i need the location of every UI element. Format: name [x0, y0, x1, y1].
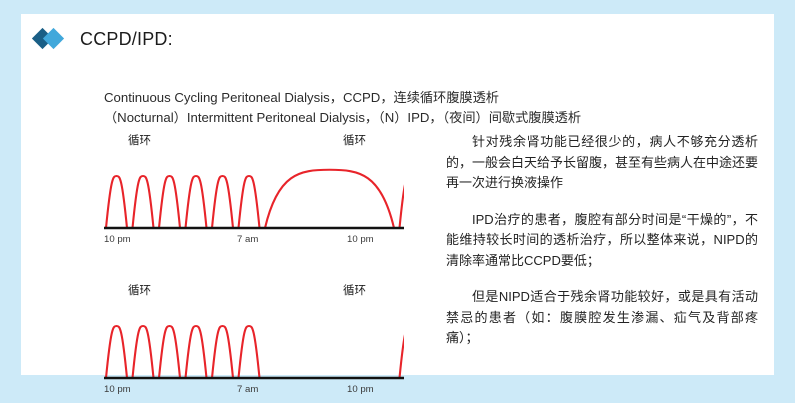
chart-nipd-svg — [104, 302, 404, 382]
chart-ccpd-plot — [104, 152, 424, 232]
slide-title-row: CCPD/IPD: — [35, 28, 173, 50]
dialysis-exchange-peak — [133, 176, 154, 228]
cycle-label-right: 循环 — [343, 282, 366, 298]
dialysis-exchange-peak — [106, 326, 127, 378]
dialysis-exchange-peak — [186, 326, 207, 378]
x-tick-0: 10 pm — [104, 384, 131, 395]
cycle-label-right: 循环 — [343, 132, 366, 148]
long-dwell-dome — [265, 170, 394, 228]
chart-nipd-plot — [104, 302, 424, 382]
x-tick-1: 7 am — [237, 234, 258, 245]
chart-ccpd: 循环 循环 10 pm 7 am 10 pm — [104, 132, 424, 250]
dialysis-exchange-peak — [212, 326, 233, 378]
chart-nipd-annotations: 循环 循环 — [104, 282, 424, 302]
notes-column: 针对残余肾功能已经很少的，病人不够充分透析的，一般会白天给予长留腹，甚至有些病人… — [446, 132, 758, 349]
chart-nipd: 循环 循环 10 pm 7 am 10 pm — [104, 282, 424, 400]
dialysis-exchange-peak — [186, 176, 207, 228]
x-tick-2: 10 pm — [347, 384, 374, 395]
double-diamond-icon — [35, 28, 69, 50]
chart-ccpd-annotations: 循环 循环 — [104, 132, 424, 152]
dialysis-exchange-peak — [400, 176, 405, 228]
cycle-label-left: 循环 — [128, 282, 151, 298]
dialysis-exchange-peak — [239, 176, 260, 228]
cycle-label-left: 循环 — [128, 132, 151, 148]
definition-block: Continuous Cycling Peritoneal Dialysis，C… — [104, 88, 754, 128]
definition-line-ccpd: Continuous Cycling Peritoneal Dialysis，C… — [104, 88, 754, 108]
dialysis-exchange-peak — [106, 176, 127, 228]
definition-line-nipd: （Nocturnal）Intermittent Peritoneal Dialy… — [104, 108, 754, 128]
slide-canvas: CCPD/IPD: Continuous Cycling Peritoneal … — [21, 14, 774, 375]
dialysis-exchange-peak — [239, 326, 260, 378]
note-paragraph-1: 针对残余肾功能已经很少的，病人不够充分透析的，一般会白天给予长留腹，甚至有些病人… — [446, 132, 758, 194]
x-tick-0: 10 pm — [104, 234, 131, 245]
dialysis-exchange-peak — [159, 326, 180, 378]
dialysis-exchange-peak — [400, 326, 405, 378]
charts-column: 循环 循环 10 pm 7 am 10 pm 循环 循环 — [104, 132, 424, 400]
dialysis-exchange-peak — [133, 326, 154, 378]
dialysis-exchange-peak — [212, 176, 233, 228]
x-tick-1: 7 am — [237, 384, 258, 395]
x-tick-2: 10 pm — [347, 234, 374, 245]
chart-ccpd-ticks: 10 pm 7 am 10 pm — [104, 234, 424, 250]
note-paragraph-3: 但是NIPD适合于残余肾功能较好，或是具有活动禁忌的患者（如：腹膜腔发生渗漏、疝… — [446, 287, 758, 349]
chart-ccpd-svg — [104, 152, 404, 232]
chart-nipd-ticks: 10 pm 7 am 10 pm — [104, 384, 424, 400]
dialysis-exchange-peak — [159, 176, 180, 228]
note-paragraph-2: IPD治疗的患者，腹腔有部分时间是“干燥的”，不能维持较长时间的透析治疗，所以整… — [446, 210, 758, 272]
page-title: CCPD/IPD: — [80, 29, 173, 50]
